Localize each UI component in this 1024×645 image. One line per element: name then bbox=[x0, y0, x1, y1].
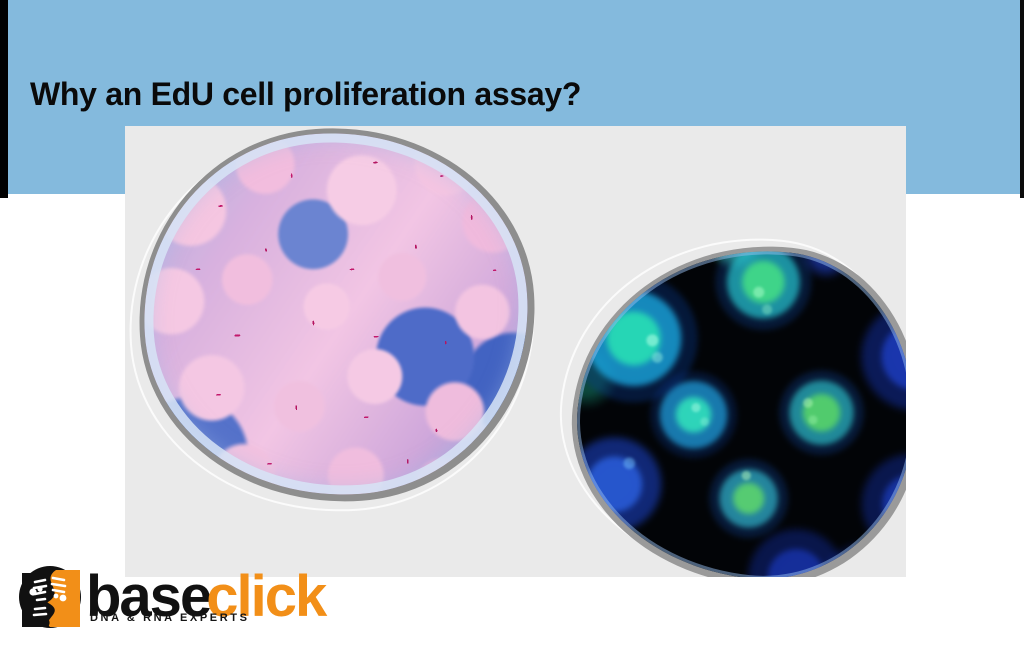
fluorescence-figure bbox=[561, 236, 906, 577]
fluorescence-blob-frame bbox=[556, 227, 906, 577]
slide-canvas: Why an EdU cell proliferation assay? bbox=[0, 0, 1024, 645]
baseclick-logo[interactable]: baseclick DNA & RNA EXPERTS bbox=[18, 561, 325, 633]
right-edge-strip bbox=[1020, 0, 1024, 198]
histology-image-clip bbox=[132, 126, 540, 508]
logo-tagline: DNA & RNA EXPERTS bbox=[90, 612, 250, 624]
image-panel bbox=[125, 126, 906, 577]
left-edge-strip bbox=[0, 0, 8, 198]
page-title: Why an EdU cell proliferation assay? bbox=[30, 72, 581, 116]
histology-blob-frame bbox=[126, 126, 547, 515]
histology-figure bbox=[125, 126, 545, 526]
dna-helix-circle-icon bbox=[18, 565, 82, 629]
baseclick-wordmark: baseclick DNA & RNA EXPERTS bbox=[86, 568, 325, 626]
fluorescence-image-clip bbox=[562, 232, 906, 577]
